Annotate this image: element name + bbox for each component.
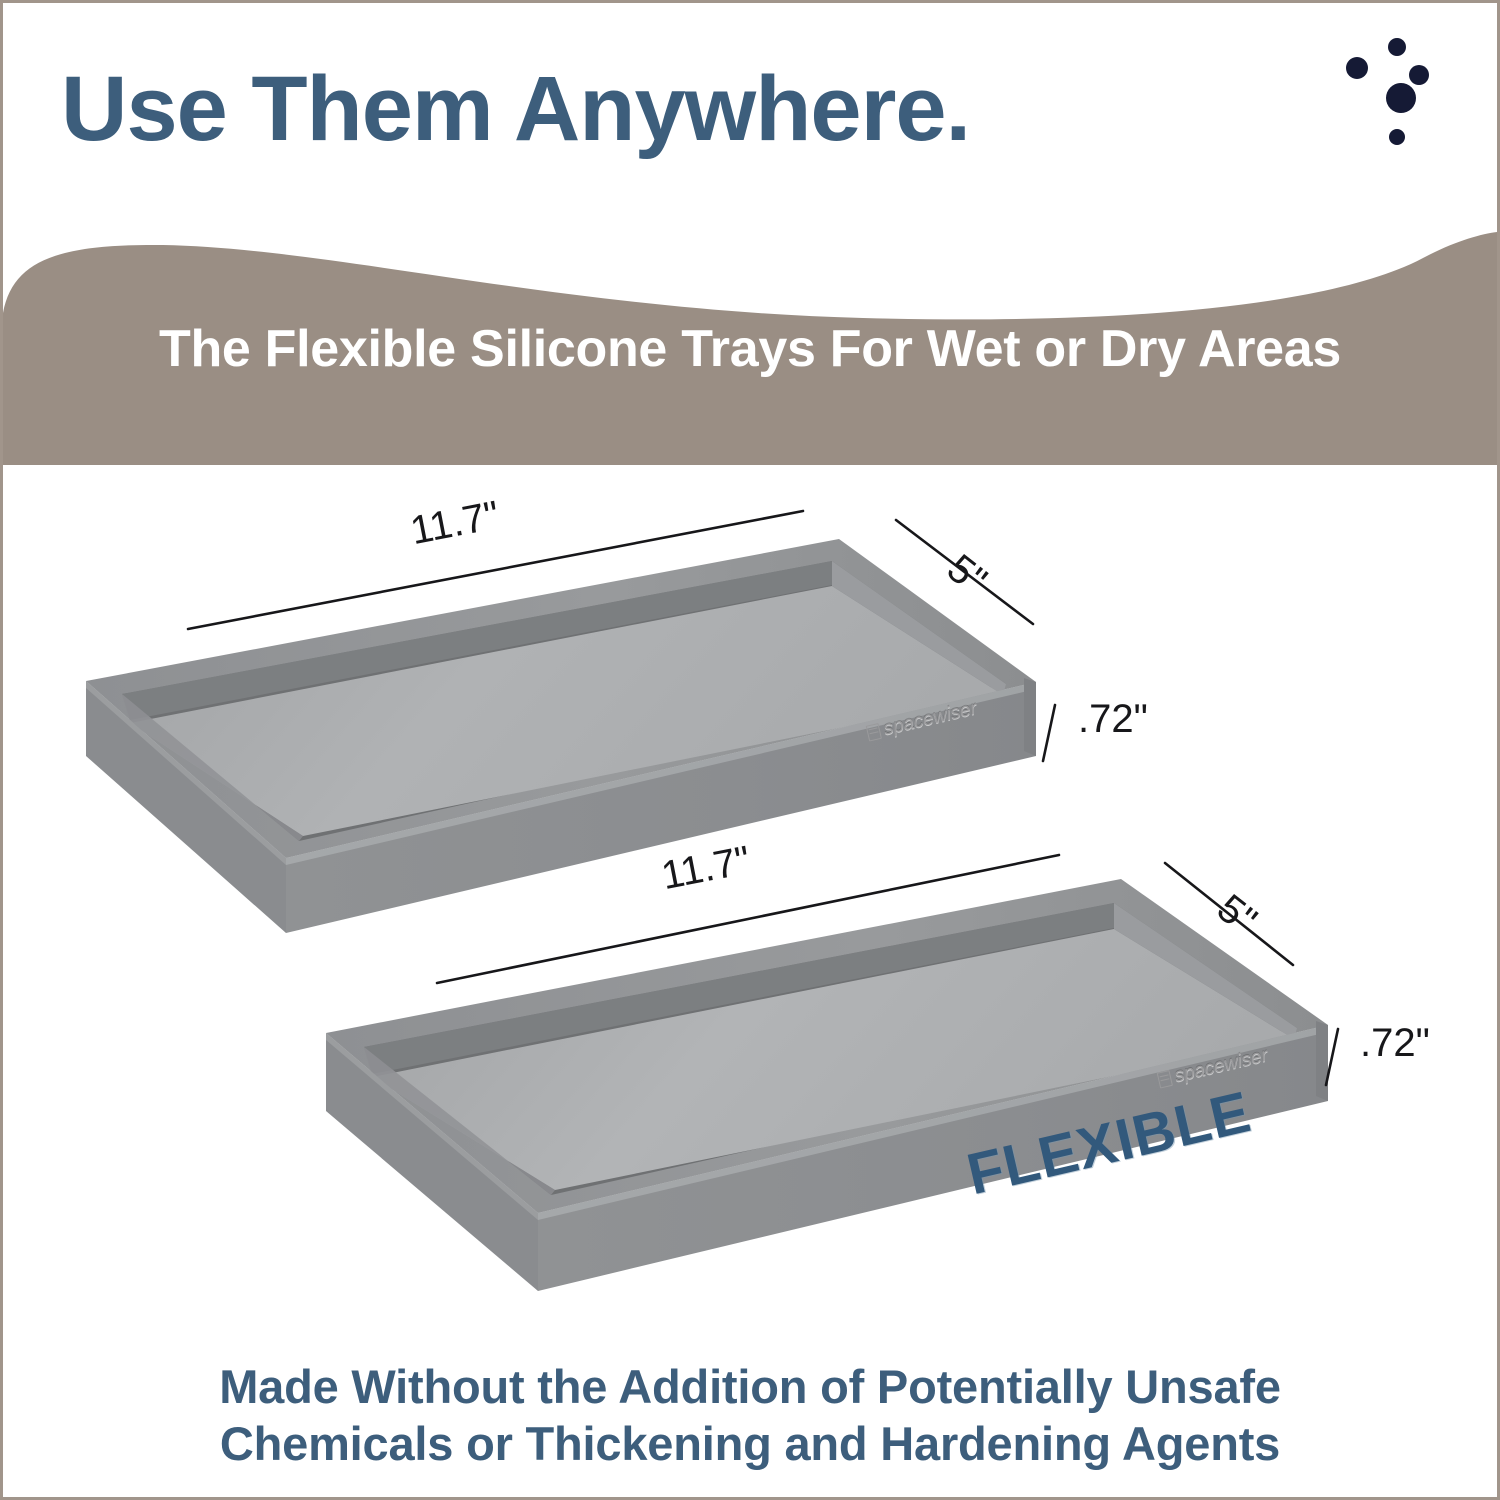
tray-bottom-height-label: .72" (1360, 1021, 1430, 1066)
decor-dot-icon (1346, 57, 1368, 79)
decor-dot-icon (1409, 65, 1429, 85)
product-illustration: 11.7" 5" .72" 11.7" 5" .72" spacewiser s… (3, 473, 1497, 1343)
claim-line-2: Chemicals or Thickening and Hardening Ag… (3, 1415, 1497, 1472)
tray-top-height-label: .72" (1078, 697, 1148, 742)
page-title: Use Them Anywhere. (61, 61, 970, 158)
subtitle-text: The Flexible Silicone Trays For Wet or D… (3, 319, 1497, 379)
decor-dot-icon (1386, 83, 1416, 113)
decorative-dots-cluster (1343, 23, 1500, 183)
drawer-lines-icon (1157, 1070, 1173, 1089)
claim-line-1: Made Without the Addition of Potentially… (3, 1358, 1497, 1415)
infographic-page: Use Them Anywhere. The Flexible Silicone… (0, 0, 1500, 1500)
decor-dot-icon (1388, 38, 1406, 56)
decor-dot-icon (1389, 129, 1405, 145)
drawer-lines-icon (866, 723, 882, 742)
bottom-claim: Made Without the Addition of Potentially… (3, 1358, 1497, 1473)
